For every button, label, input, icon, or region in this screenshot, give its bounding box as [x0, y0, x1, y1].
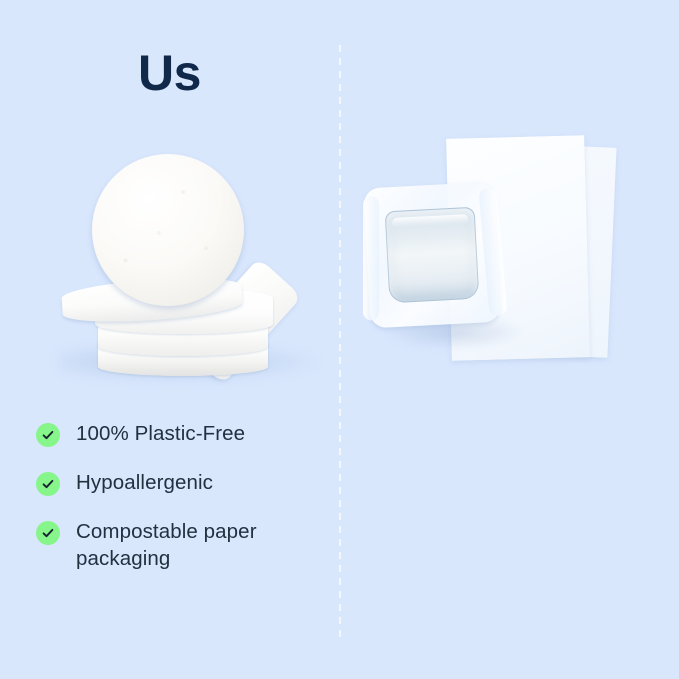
check-icon — [36, 521, 60, 545]
benefits-list-us: 100% Plastic-Free Hypoallergenic Compost… — [36, 420, 326, 594]
list-item-label: Compostable paper packaging — [76, 518, 326, 572]
column-them: Them Made with plastic — [339, 0, 679, 679]
effervescent-tablet-stack-illustration — [0, 140, 339, 400]
plastic-pod-illustration — [339, 125, 679, 400]
list-item-label: 100% Plastic-Free — [76, 420, 245, 447]
list-item: Compostable paper packaging — [36, 518, 326, 572]
comparison-infographic: Us 100% Plastic-Free — [0, 0, 679, 679]
list-item: Hypoallergenic — [36, 469, 326, 496]
check-icon — [36, 472, 60, 496]
list-item-label: Hypoallergenic — [76, 469, 213, 496]
list-item: 100% Plastic-Free — [36, 420, 326, 447]
column-us: Us 100% Plastic-Free — [0, 0, 339, 679]
plastic-wrapped-pod — [363, 182, 500, 329]
check-icon — [36, 423, 60, 447]
page-title-us: Us — [0, 48, 339, 98]
tablet-upright-face — [92, 154, 244, 306]
pod-liquid — [385, 207, 480, 304]
